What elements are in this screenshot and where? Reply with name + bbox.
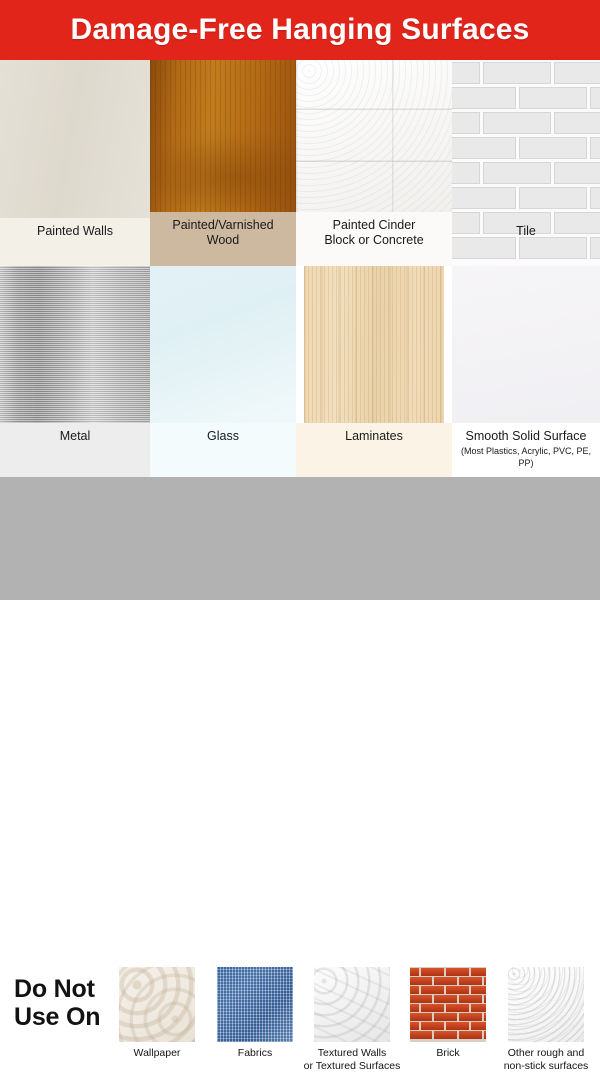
do-not-use-label-line1: Wallpaper [134, 1047, 181, 1059]
surface-cell-metal[interactable]: Metal [0, 266, 150, 477]
header-banner: Damage-Free Hanging Surfaces [0, 0, 600, 60]
surface-cell-painted-walls[interactable]: Painted Walls [0, 60, 150, 266]
do-not-use-item-wallpaper[interactable]: Wallpaper [119, 967, 197, 1060]
surface-label: Glass [207, 429, 239, 443]
surface-caption-tile: Tile [452, 218, 600, 266]
do-not-use-title: Do Not Use On [14, 975, 100, 1031]
do-not-use-item-other-rough[interactable]: Other rough and non-stick surfaces [508, 967, 586, 1072]
surface-label: Laminates [345, 429, 403, 443]
laminate-wood-swatch [304, 266, 444, 437]
surface-cell-tile[interactable]: Tile [452, 60, 600, 266]
do-not-use-label-line1: Other rough and [508, 1047, 584, 1059]
surface-label: Smooth Solid Surface [466, 429, 587, 443]
surface-caption-smooth-solid-surface: Smooth Solid Surface (Most Plastics, Acr… [452, 423, 600, 477]
wallpaper-swatch [119, 967, 195, 1042]
surface-label-line2: Wood [207, 233, 239, 247]
approved-surfaces-grid: Painted Walls Painted/Varnished Wood Pai… [0, 60, 600, 477]
do-not-use-label: Textured Walls or Textured Surfaces [302, 1047, 402, 1072]
surface-caption-painted-walls: Painted Walls [0, 218, 150, 266]
do-not-use-title-line1: Do Not [14, 975, 95, 1003]
do-not-use-label-line1: Fabrics [238, 1047, 272, 1059]
do-not-use-label-line1: Brick [436, 1047, 459, 1059]
surface-caption-wood: Painted/Varnished Wood [150, 212, 296, 266]
do-not-use-label: Other rough and non-stick surfaces [496, 1047, 596, 1072]
surface-cell-cinder-block[interactable]: Painted Cinder Block or Concrete [296, 60, 452, 266]
surface-label: Tile [516, 224, 536, 238]
poster-root: Damage-Free Hanging Surfaces Painted Wal… [0, 0, 600, 600]
surface-label: Painted Cinder [333, 218, 416, 232]
surface-caption-laminates: Laminates [296, 423, 452, 477]
do-not-use-label: Fabrics [205, 1047, 305, 1060]
do-not-use-label-line2: or Textured Surfaces [304, 1060, 401, 1072]
surface-caption-glass: Glass [150, 423, 296, 477]
do-not-use-label: Brick [398, 1047, 498, 1060]
do-not-use-label: Wallpaper [107, 1047, 207, 1060]
surface-label-sub: (Most Plastics, Acrylic, PVC, PE, PP) [455, 445, 597, 469]
do-not-use-item-fabrics[interactable]: Fabrics [217, 967, 295, 1060]
do-not-use-title-line2: Use On [14, 1003, 100, 1031]
surface-cell-smooth-solid-surface[interactable]: Smooth Solid Surface (Most Plastics, Acr… [452, 266, 600, 477]
page-title: Damage-Free Hanging Surfaces [70, 13, 529, 47]
do-not-use-item-textured-walls[interactable]: Textured Walls or Textured Surfaces [314, 967, 392, 1072]
surface-caption-cinder-block: Painted Cinder Block or Concrete [296, 212, 452, 266]
rough-surface-swatch [508, 967, 584, 1042]
surface-cell-laminates[interactable]: Laminates [296, 266, 452, 477]
surface-cell-glass[interactable]: Glass [150, 266, 296, 477]
do-not-use-item-brick[interactable]: Brick [410, 967, 488, 1060]
do-not-use-section: Do Not Use On Wallpaper Fabrics Textured… [0, 477, 600, 600]
surface-label: Painted Walls [37, 224, 113, 238]
surface-label: Painted/Varnished [172, 218, 273, 232]
do-not-use-label-line2: non-stick surfaces [504, 1060, 589, 1072]
surface-label-line2: Block or Concrete [324, 233, 423, 247]
fabric-swatch [217, 967, 293, 1042]
brick-swatch [410, 967, 486, 1042]
textured-wall-swatch [314, 967, 390, 1042]
surface-caption-metal: Metal [0, 423, 150, 477]
do-not-use-label-line1: Textured Walls [318, 1047, 386, 1059]
surface-label: Metal [60, 429, 91, 443]
surface-cell-wood[interactable]: Painted/Varnished Wood [150, 60, 296, 266]
